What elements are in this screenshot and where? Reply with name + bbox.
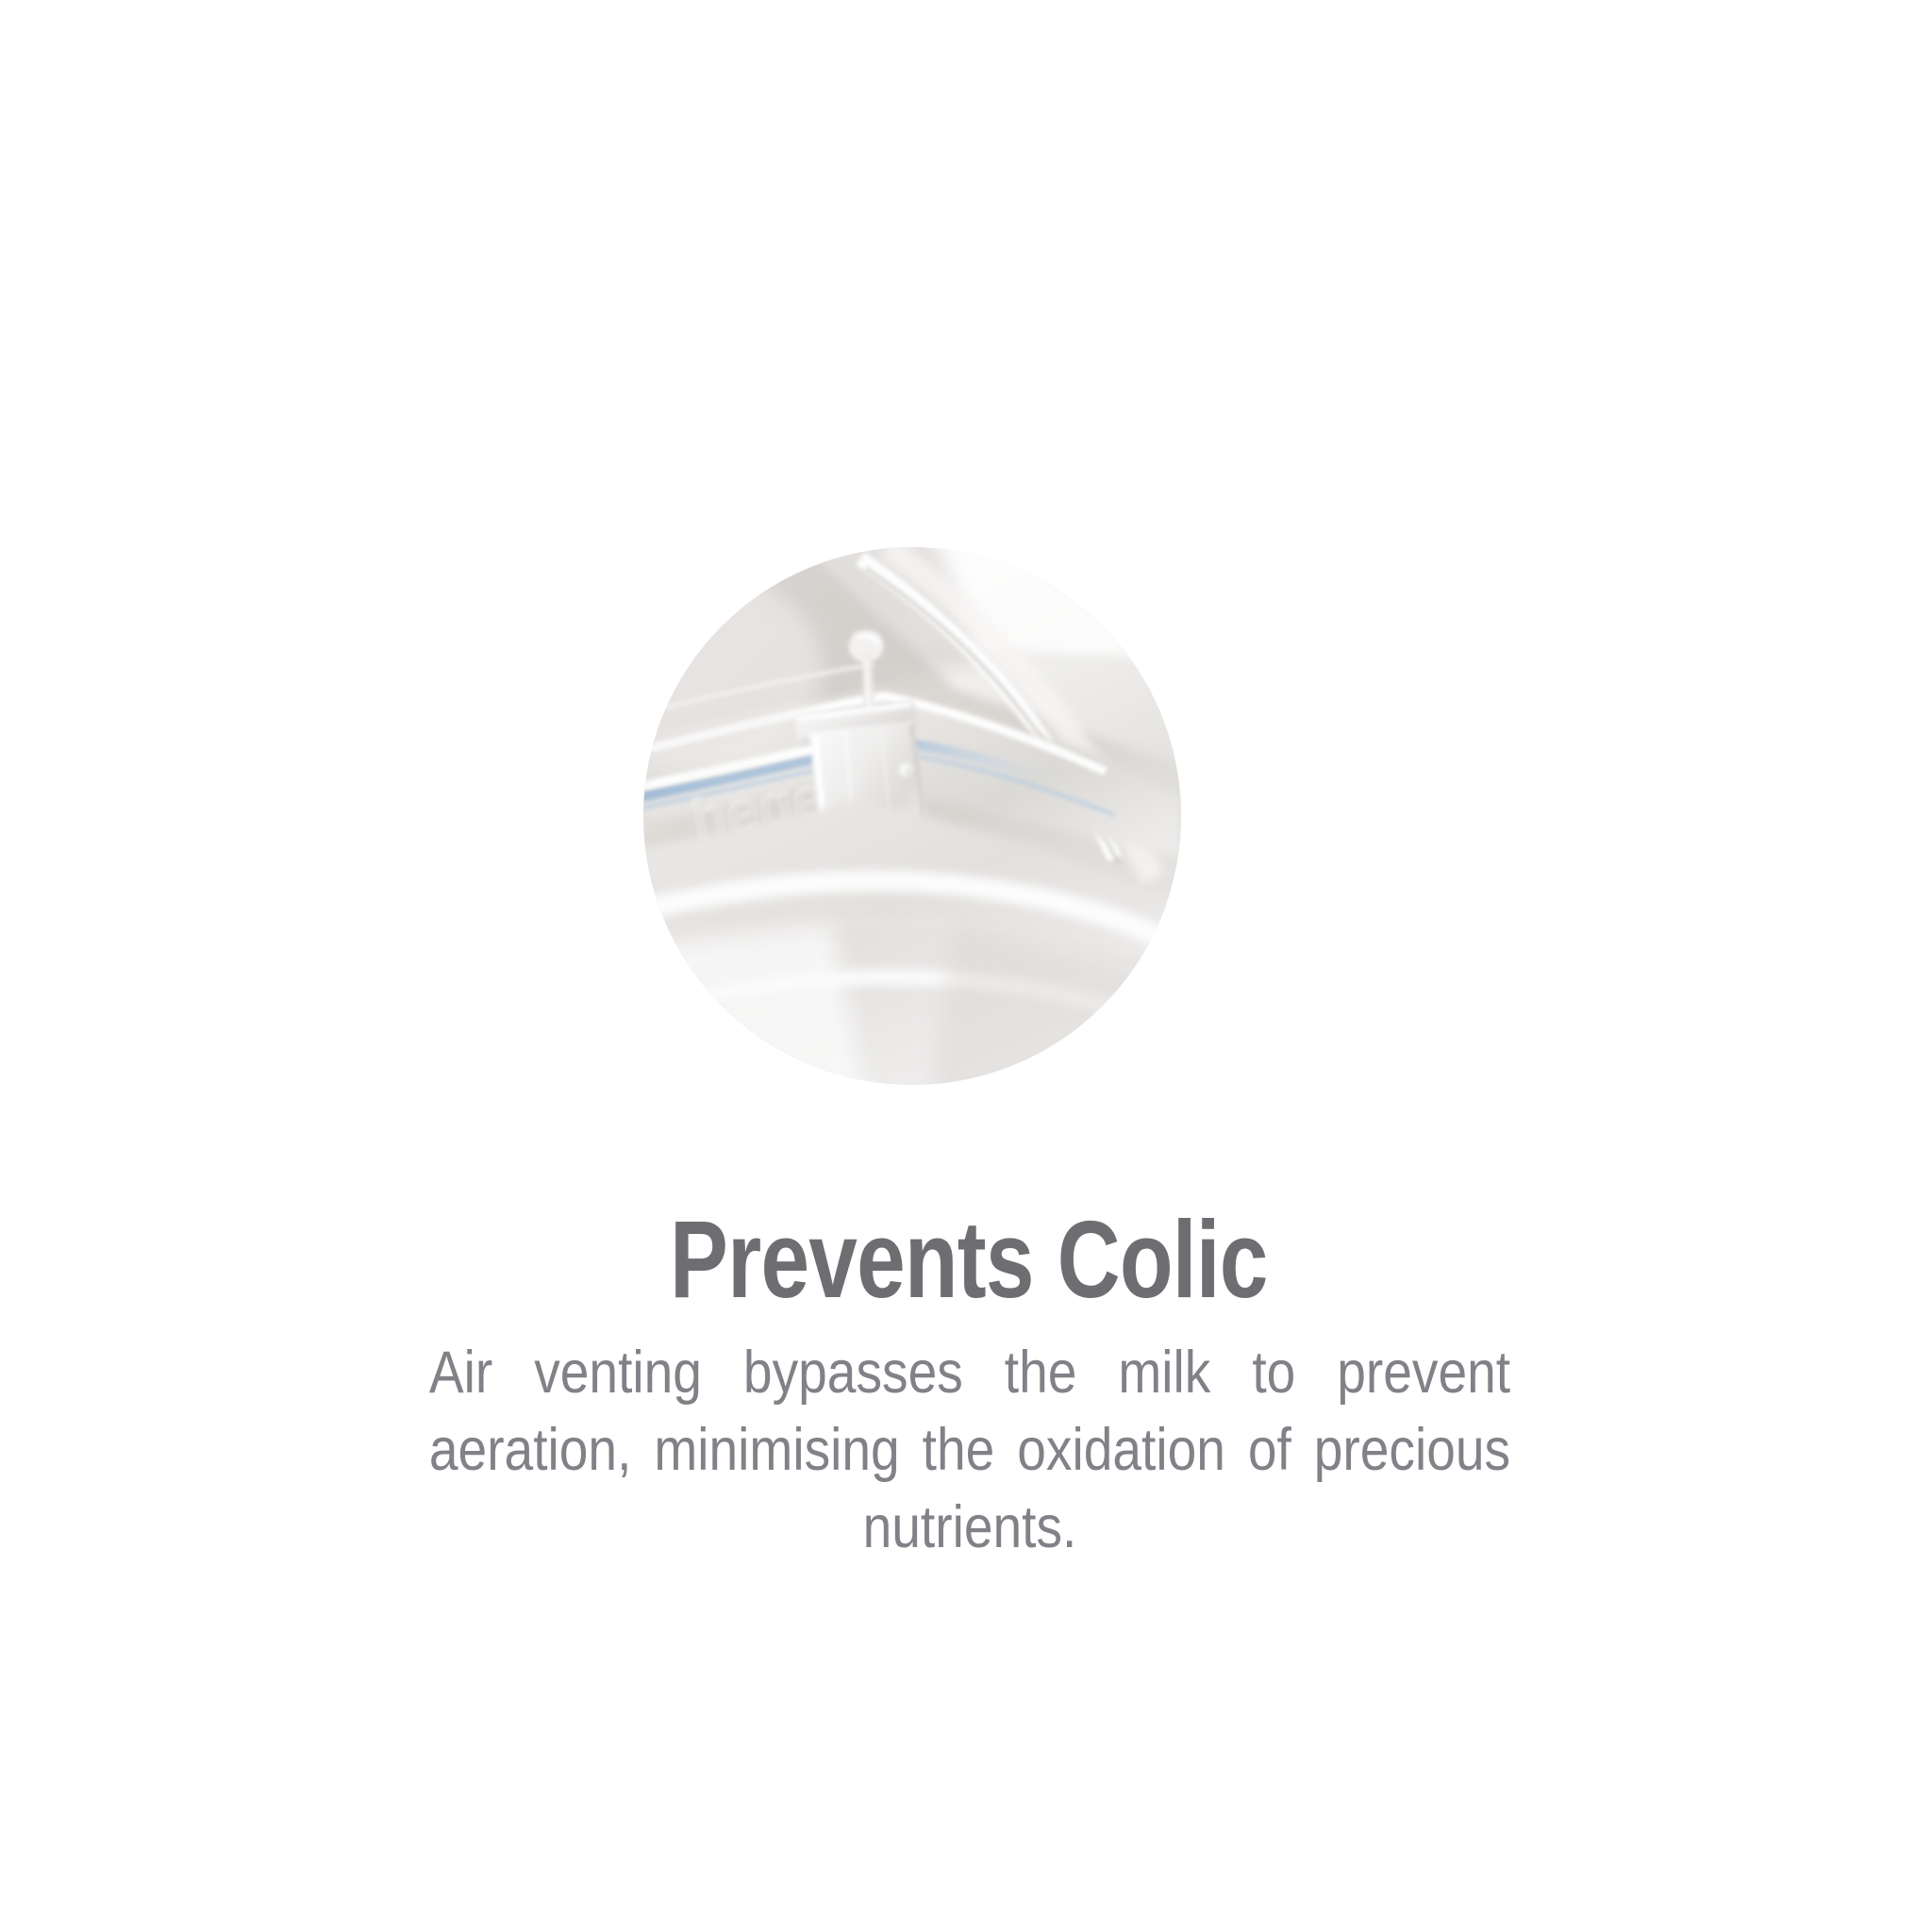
feature-card: hegen hegen: [0, 0, 1932, 1932]
feature-description: Air venting bypasses the milk to prevent…: [429, 1335, 1510, 1567]
page-title: Prevents Colic: [196, 1202, 1741, 1318]
bottle-vent-illustration: hegen hegen: [643, 547, 1181, 1085]
product-photo-circle: hegen hegen: [643, 547, 1181, 1085]
